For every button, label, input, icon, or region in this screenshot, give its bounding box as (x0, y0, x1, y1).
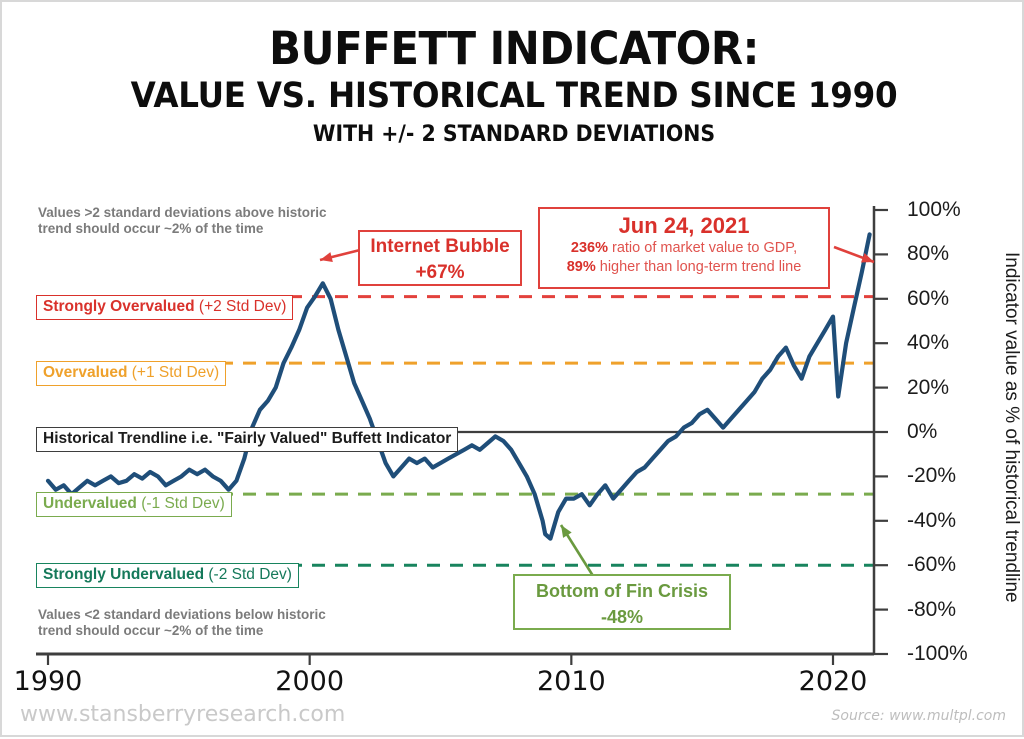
y-tick-label: 60% (907, 287, 949, 311)
callout-jun-2021-premium: 89% (567, 259, 596, 275)
band-label-strongly-overvalued-sub: (+2 Std Dev) (195, 298, 287, 315)
y-tick-label: -60% (907, 553, 956, 577)
callout-fin-crisis: Bottom of Fin Crisis -48% (513, 574, 731, 630)
band-label-strongly-overvalued-bold: Strongly Overvalued (43, 298, 195, 315)
band-label-strongly-undervalued-bold: Strongly Undervalued (43, 566, 204, 583)
band-label-strongly-overvalued: Strongly Overvalued (+2 Std Dev) (36, 295, 293, 320)
footer-source: Source: www.multpl.com (832, 708, 1006, 724)
note-above-trend: Values >2 standard deviations above hist… (38, 205, 326, 237)
y-tick-label: -100% (907, 642, 968, 666)
band-label-overvalued-sub: (+1 Std Dev) (127, 364, 219, 381)
callout-jun-2021-line1-rest: ratio of market value to GDP, (608, 240, 797, 256)
chart-frame: BUFFETT INDICATOR: VALUE VS. HISTORICAL … (0, 0, 1024, 737)
callout-internet-bubble: Internet Bubble +67% (358, 230, 522, 286)
y-tick-label: 40% (907, 331, 949, 355)
callout-jun-2021-date: Jun 24, 2021 (540, 212, 828, 239)
note-below-trend: Values <2 standard deviations below hist… (38, 607, 326, 639)
callout-jun-2021-ratio: 236% (571, 240, 608, 256)
footer-site: www.stansberryresearch.com (20, 702, 345, 727)
band-label-trendline-text: Historical Trendline i.e. "Fairly Valued… (43, 430, 451, 447)
arrow-internet-bubble (320, 250, 360, 262)
band-label-trendline: Historical Trendline i.e. "Fairly Valued… (36, 427, 458, 452)
y-tick-label: 80% (907, 242, 949, 266)
x-tick-label: 1990 (14, 666, 83, 697)
callout-internet-bubble-title: Internet Bubble (360, 234, 520, 260)
callout-jun-2021-line1: 236% ratio of market value to GDP, (540, 239, 828, 258)
y-axis-title: Indicator value as % of historical trend… (992, 207, 1022, 647)
band-label-strongly-undervalued-sub: (-2 Std Dev) (204, 566, 292, 583)
x-tick-label: 2000 (275, 666, 344, 697)
callout-internet-bubble-value: +67% (360, 260, 520, 286)
x-tick-label: 2010 (537, 666, 606, 697)
callout-fin-crisis-title: Bottom of Fin Crisis (515, 578, 729, 604)
band-label-overvalued: Overvalued (+1 Std Dev) (36, 361, 226, 386)
callout-fin-crisis-value: -48% (515, 604, 729, 630)
y-tick-label: -80% (907, 598, 956, 622)
band-label-strongly-undervalued: Strongly Undervalued (-2 Std Dev) (36, 563, 299, 588)
y-tick-label: -20% (907, 464, 956, 488)
band-label-undervalued-bold: Undervalued (43, 495, 137, 512)
callout-jun-2021-line2: 89% higher than long-term trend line (540, 258, 828, 277)
y-tick-label: 100% (907, 198, 961, 222)
band-label-undervalued: Undervalued (-1 Std Dev) (36, 492, 232, 517)
x-tick-label: 2020 (799, 666, 868, 697)
y-tick-label: 0% (907, 420, 937, 444)
callout-jun-2021: Jun 24, 2021 236% ratio of market value … (538, 207, 830, 289)
y-tick-label: 20% (907, 376, 949, 400)
callout-jun-2021-line2-rest: higher than long-term trend line (596, 259, 802, 275)
band-label-overvalued-bold: Overvalued (43, 364, 127, 381)
band-label-undervalued-sub: (-1 Std Dev) (137, 495, 225, 512)
y-tick-label: -40% (907, 509, 956, 533)
